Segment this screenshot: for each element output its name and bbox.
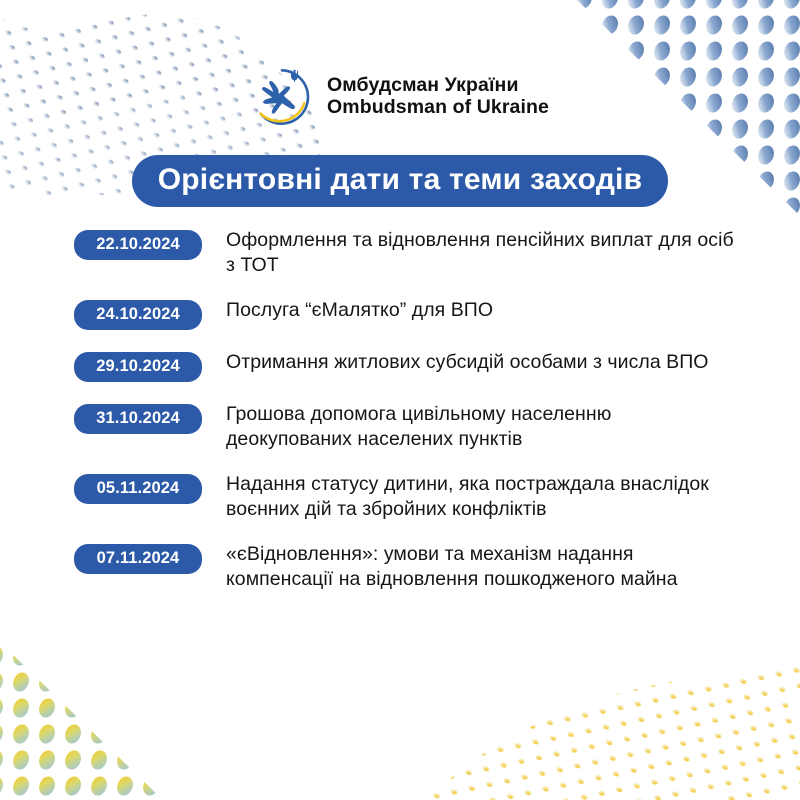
- agenda-row: 31.10.2024 Грошова допомога цивільному н…: [74, 402, 734, 452]
- brand-name-en: Ombudsman of Ukraine: [327, 97, 549, 119]
- brand-header: Омбудсман України Ombudsman of Ukraine: [0, 66, 800, 128]
- date-badge: 31.10.2024: [74, 404, 202, 434]
- poster-canvas: Омбудсман України Ombudsman of Ukraine О…: [0, 0, 800, 800]
- agenda-row: 07.11.2024 «єВідновлення»: умови та меха…: [74, 542, 734, 592]
- date-badge: 29.10.2024: [74, 352, 202, 382]
- agenda-topic: Отримання житлових субсидій особами з чи…: [226, 350, 734, 375]
- decor-bottom-right-dot-wave: [340, 630, 800, 800]
- agenda-row: 22.10.2024 Оформлення та відновлення пен…: [74, 228, 734, 278]
- date-badge: 07.11.2024: [74, 544, 202, 574]
- date-badge: 22.10.2024: [74, 230, 202, 260]
- page-title: Орієнтовні дати та теми заходів: [132, 155, 669, 207]
- date-badge: 05.11.2024: [74, 474, 202, 504]
- ombudsman-logo-icon: [251, 66, 313, 128]
- agenda-topic: Послуга “єМалятко” для ВПО: [226, 298, 734, 323]
- agenda-topic: «єВідновлення»: умови та механізм наданн…: [226, 542, 734, 592]
- brand-name-uk: Омбудсман України: [327, 75, 549, 97]
- brand-wordmark: Омбудсман України Ombudsman of Ukraine: [327, 75, 549, 119]
- agenda-topic: Надання статусу дитини, яка постраждала …: [226, 472, 734, 522]
- agenda-row: 29.10.2024 Отримання житлових субсидій о…: [74, 350, 734, 382]
- agenda-topic: Оформлення та відновлення пенсійних випл…: [226, 228, 734, 278]
- agenda-list: 22.10.2024 Оформлення та відновлення пен…: [74, 228, 734, 612]
- date-badge: 24.10.2024: [74, 300, 202, 330]
- page-title-wrap: Орієнтовні дати та теми заходів: [0, 155, 800, 207]
- agenda-row: 05.11.2024 Надання статусу дитини, яка п…: [74, 472, 734, 522]
- agenda-topic: Грошова допомога цивільному населенню де…: [226, 402, 734, 452]
- agenda-row: 24.10.2024 Послуга “єМалятко” для ВПО: [74, 298, 734, 330]
